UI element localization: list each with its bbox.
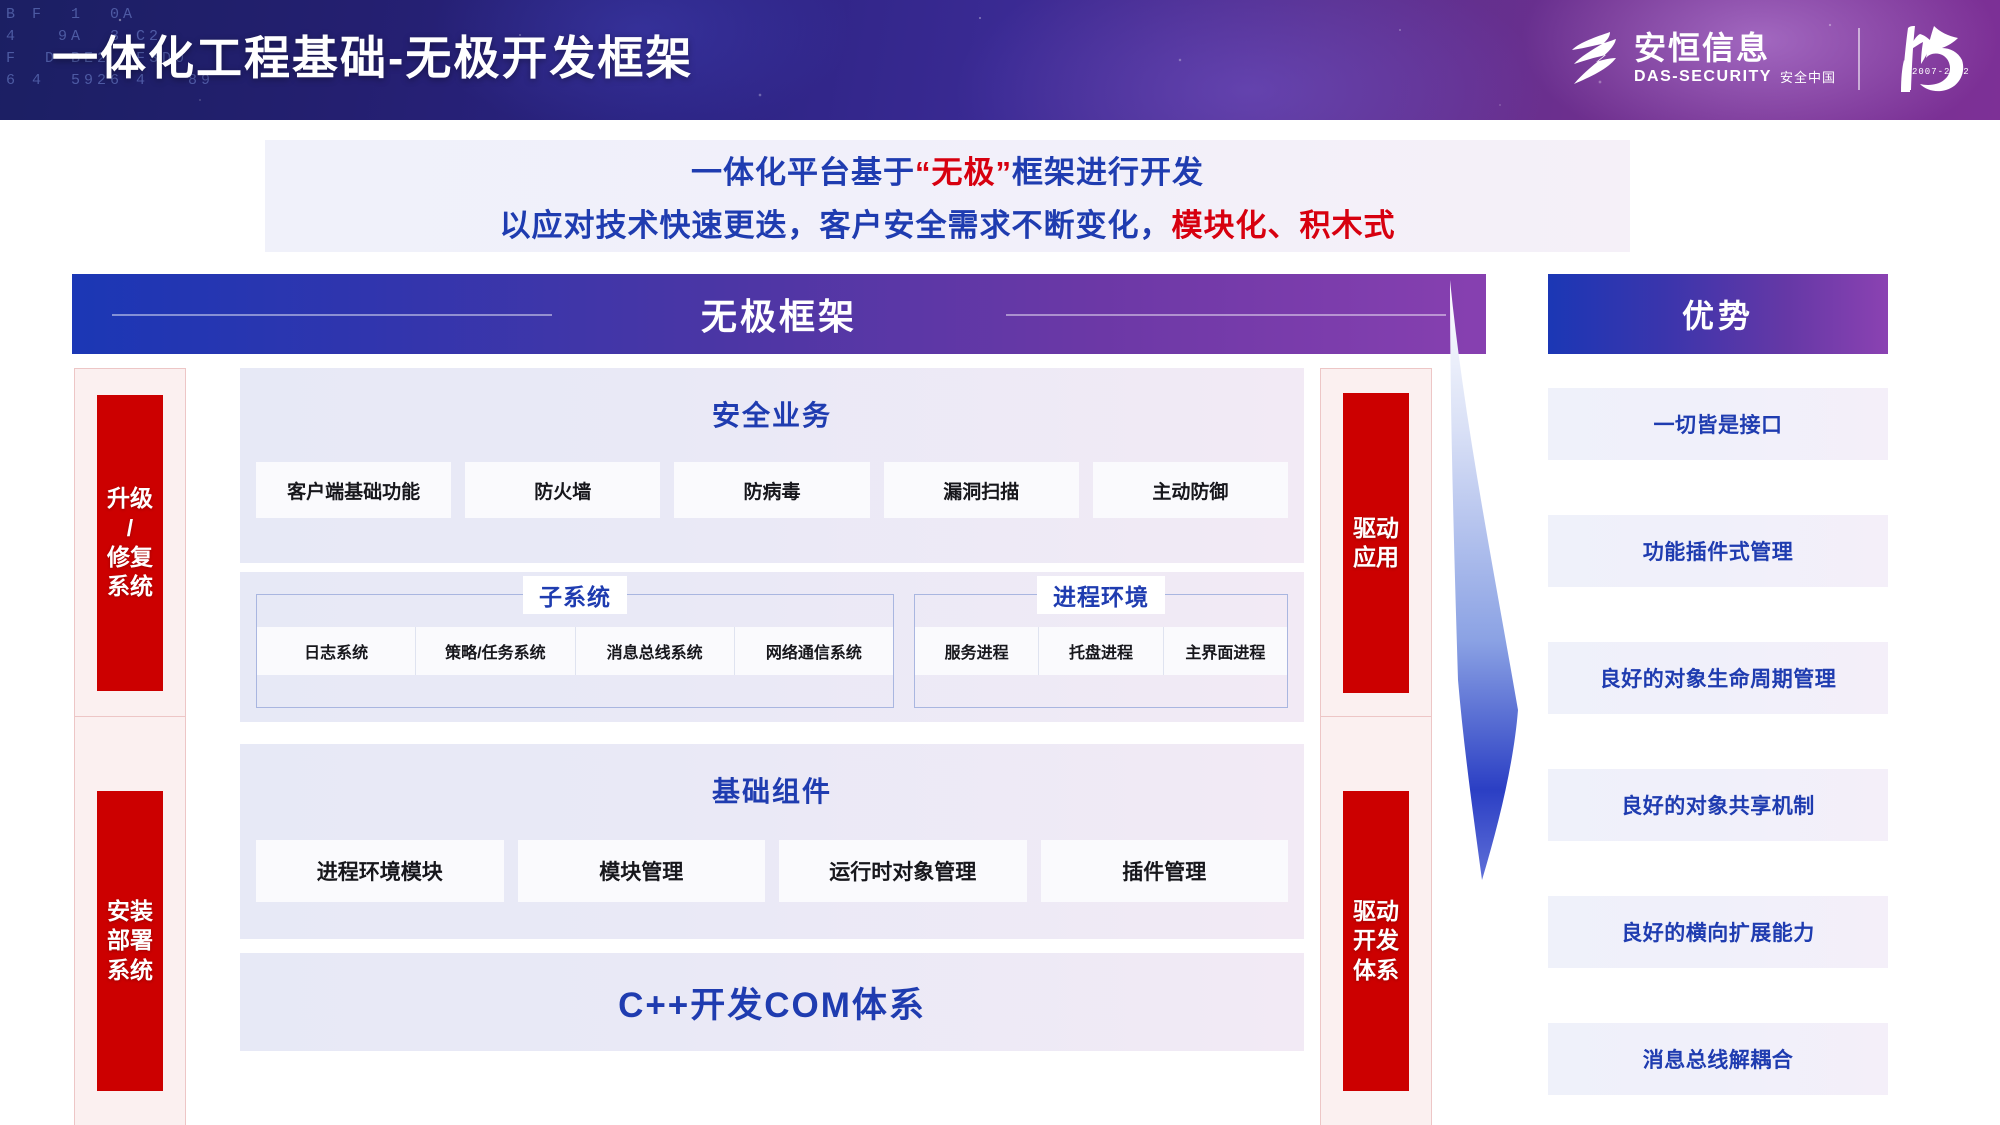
subtitle-line-2: 以应对技术快速更迭，客户安全需求不断变化，模块化、积木式 bbox=[500, 200, 1396, 245]
process-env-group-label: 进程环境 bbox=[1037, 576, 1165, 614]
item-main-ui-process[interactable]: 主界面进程 bbox=[1164, 627, 1287, 675]
chip-firewall[interactable]: 防火墙 bbox=[465, 462, 660, 518]
process-env-group-items: 服务进程 托盘进程 主界面进程 bbox=[915, 627, 1287, 675]
subtitle-line1-accent: “无极” bbox=[915, 155, 1012, 190]
slide-root: B F 1 0A 4 9A 3 C2 F D BE2 F3D0 6 4 5926… bbox=[0, 0, 2000, 1125]
item-log-system[interactable]: 日志系统 bbox=[257, 627, 416, 675]
logo-company-cn: 安恒信息 bbox=[1634, 32, 1836, 66]
chip-active-defense[interactable]: 主动防御 bbox=[1093, 462, 1288, 518]
chip-module-management[interactable]: 模块管理 bbox=[518, 840, 766, 902]
chip-antivirus[interactable]: 防病毒 bbox=[674, 462, 869, 518]
framework-header-deco-left bbox=[112, 314, 552, 316]
logo-subline: DAS-SECURITY 安全中国 bbox=[1634, 67, 1836, 86]
anniversary-years: 2007-2022 bbox=[1912, 67, 1970, 77]
rail-install-deploy-label: 安装 部署 系统 bbox=[97, 791, 163, 1091]
chip-plugin-management[interactable]: 插件管理 bbox=[1041, 840, 1289, 902]
item-message-bus-system[interactable]: 消息总线系统 bbox=[576, 627, 735, 675]
framework-header-title: 无极框架 bbox=[701, 288, 857, 340]
subtitle-line-1: 一体化平台基于“无极”框架进行开发 bbox=[691, 147, 1204, 192]
security-business-items: 客户端基础功能 防火墙 防病毒 漏洞扫描 主动防御 bbox=[240, 462, 1304, 536]
foundation-title: C++开发COM体系 bbox=[618, 977, 926, 1028]
anniversary-15-icon: 2007-2022 bbox=[1882, 20, 1978, 98]
page-header: B F 1 0A 4 9A 3 C2 F D BE2 F3D0 6 4 5926… bbox=[0, 0, 2000, 120]
item-policy-task-system[interactable]: 策略/任务系统 bbox=[416, 627, 575, 675]
advantage-item-message-bus-decoupling[interactable]: 消息总线解耦合 bbox=[1548, 1023, 1888, 1095]
connector-ribbon bbox=[1444, 280, 1564, 880]
security-business-panel: 安全业务 客户端基础功能 防火墙 防病毒 漏洞扫描 主动防御 bbox=[240, 368, 1304, 563]
advantage-item-object-lifecycle[interactable]: 良好的对象生命周期管理 bbox=[1548, 642, 1888, 714]
logo-slogan: 安全中国 bbox=[1780, 67, 1836, 86]
subtitle-line2-accent: 模块化、积木式 bbox=[1172, 208, 1396, 243]
advantage-item-object-sharing[interactable]: 良好的对象共享机制 bbox=[1548, 769, 1888, 841]
advantages-list: 一切皆是接口 功能插件式管理 良好的对象生命周期管理 良好的对象共享机制 良好的… bbox=[1548, 388, 1888, 1095]
advantage-item-plugin-management[interactable]: 功能插件式管理 bbox=[1548, 515, 1888, 587]
chip-process-env-module[interactable]: 进程环境模块 bbox=[256, 840, 504, 902]
advantages-header: 优势 bbox=[1548, 274, 1888, 354]
brand-logo: 安恒信息 DAS-SECURITY 安全中国 2007-2022 bbox=[1566, 16, 1978, 102]
item-tray-process[interactable]: 托盘进程 bbox=[1039, 627, 1163, 675]
framework-header: 无极框架 bbox=[72, 274, 1486, 354]
subtitle-line1-before: 一体化平台基于 bbox=[691, 155, 915, 190]
logo-company-en: DAS-SECURITY bbox=[1634, 68, 1772, 86]
subsystems-panel: 子系统 日志系统 策略/任务系统 消息总线系统 网络通信系统 进程环境 服务进程… bbox=[240, 572, 1304, 722]
rail-driver-dev-system-label: 驱动 开发 体系 bbox=[1343, 791, 1409, 1091]
base-components-panel: 基础组件 进程环境模块 模块管理 运行时对象管理 插件管理 bbox=[240, 744, 1304, 939]
rail-driver-application: 驱动 应用 bbox=[1320, 368, 1432, 718]
advantage-item-horizontal-scaling[interactable]: 良好的横向扩展能力 bbox=[1548, 896, 1888, 968]
advantage-item-everything-is-interface[interactable]: 一切皆是接口 bbox=[1548, 388, 1888, 460]
process-env-group: 进程环境 服务进程 托盘进程 主界面进程 bbox=[914, 594, 1288, 708]
subsystem-group-label: 子系统 bbox=[523, 576, 627, 614]
rail-driver-application-label: 驱动 应用 bbox=[1343, 393, 1409, 693]
base-components-title: 基础组件 bbox=[240, 744, 1304, 810]
page-title: 一体化工程基础-无极开发框架 bbox=[52, 22, 693, 88]
framework-center-stack: 安全业务 客户端基础功能 防火墙 防病毒 漏洞扫描 主动防御 子系统 日志系统 … bbox=[240, 368, 1304, 1051]
security-business-title: 安全业务 bbox=[240, 368, 1304, 434]
chip-client-base-function[interactable]: 客户端基础功能 bbox=[256, 462, 451, 518]
framework-header-deco-right bbox=[1006, 314, 1446, 316]
subtitle-banner: 一体化平台基于“无极”框架进行开发 以应对技术快速更迭，客户安全需求不断变化，模… bbox=[265, 140, 1630, 252]
rail-upgrade-repair-label: 升级 / 修复 系统 bbox=[97, 395, 163, 691]
base-components-items: 进程环境模块 模块管理 运行时对象管理 插件管理 bbox=[240, 840, 1304, 920]
rail-driver-dev-system: 驱动 开发 体系 bbox=[1320, 716, 1432, 1125]
logo-divider bbox=[1858, 28, 1860, 90]
logo-text: 安恒信息 DAS-SECURITY 安全中国 bbox=[1634, 32, 1836, 87]
rail-upgrade-repair-system: 升级 / 修复 系统 bbox=[74, 368, 186, 718]
das-security-logo-icon bbox=[1566, 28, 1622, 90]
subsystem-group: 子系统 日志系统 策略/任务系统 消息总线系统 网络通信系统 bbox=[256, 594, 894, 708]
advantages-header-title: 优势 bbox=[1682, 291, 1754, 337]
item-network-comm-system[interactable]: 网络通信系统 bbox=[735, 627, 893, 675]
subtitle-line2-before: 以应对技术快速更迭，客户安全需求不断变化， bbox=[500, 208, 1172, 243]
subtitle-line1-after: 框架进行开发 bbox=[1012, 155, 1204, 190]
foundation-panel: C++开发COM体系 bbox=[240, 953, 1304, 1051]
item-service-process[interactable]: 服务进程 bbox=[915, 627, 1039, 675]
chip-runtime-object-management[interactable]: 运行时对象管理 bbox=[779, 840, 1027, 902]
subsystem-group-items: 日志系统 策略/任务系统 消息总线系统 网络通信系统 bbox=[257, 627, 893, 675]
logo-main: 安恒信息 DAS-SECURITY 安全中国 bbox=[1566, 28, 1836, 90]
chip-vulnerability-scan[interactable]: 漏洞扫描 bbox=[884, 462, 1079, 518]
rail-install-deploy-system: 安装 部署 系统 bbox=[74, 716, 186, 1125]
